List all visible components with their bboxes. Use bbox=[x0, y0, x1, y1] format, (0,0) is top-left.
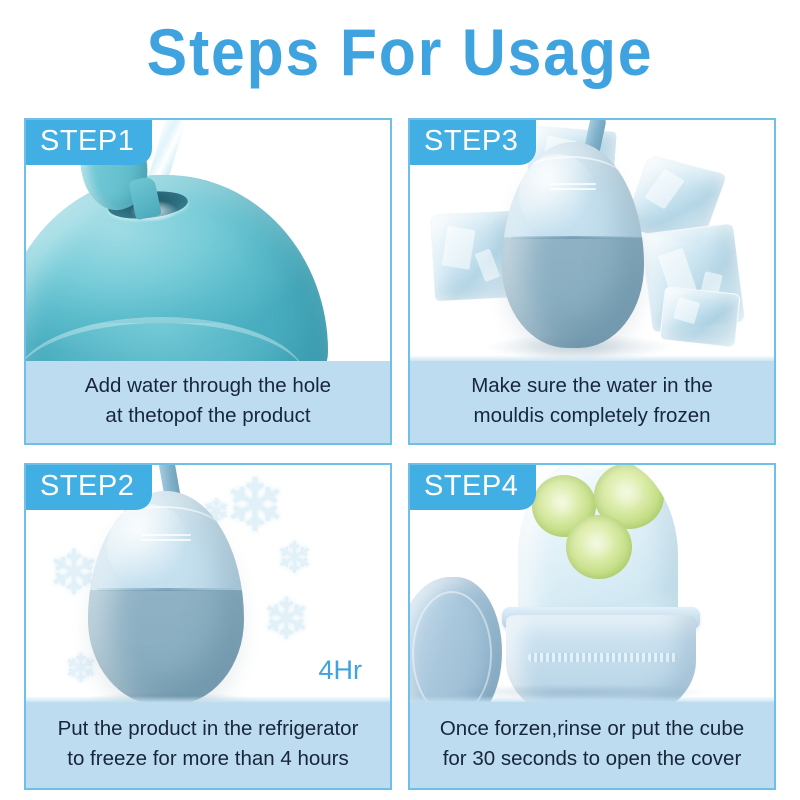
step-caption-2: Put the product in the refrigerator to f… bbox=[26, 702, 390, 788]
snowflake-icon-2: ❄ bbox=[276, 537, 313, 581]
mould-vent-lines bbox=[141, 534, 191, 544]
mould-cover-removed bbox=[410, 577, 502, 702]
floor-reflection bbox=[26, 696, 390, 702]
snowflake-icon-1: ❄ bbox=[224, 469, 286, 543]
page-title: Steps For Usage bbox=[32, 8, 768, 96]
step-badge-1: STEP1 bbox=[26, 120, 152, 165]
step-caption-4: Once forzen,rinse or put the cube for 30… bbox=[410, 702, 774, 788]
cucumber-slice-icon-3 bbox=[566, 515, 632, 579]
step-3-illustration: STEP3 bbox=[410, 120, 774, 361]
step-caption-1: Add water through the hole at thetopof t… bbox=[26, 361, 390, 443]
step-2-illustration: ❄ ❄ ❄ ❄ ❄ ❄ 4Hr STEP2 bbox=[26, 465, 390, 702]
step-4-illustration: STEP4 bbox=[410, 465, 774, 702]
snowflake-icon-4: ❄ bbox=[262, 591, 311, 649]
step-caption-3: Make sure the water in the mouldis compl… bbox=[410, 361, 774, 443]
freeze-duration-label: 4Hr bbox=[318, 655, 362, 686]
step-badge-3: STEP3 bbox=[410, 120, 536, 165]
mould-base-embossed-text bbox=[528, 653, 678, 662]
mould-vent-lines bbox=[550, 183, 595, 193]
mould-dome-rim bbox=[26, 317, 306, 361]
steps-grid: STEP1 Add water through the hole at thet… bbox=[24, 118, 776, 790]
step-panel-2: ❄ ❄ ❄ ❄ ❄ ❄ 4Hr STEP2 Put the product i bbox=[24, 463, 392, 790]
ice-cube-icon-right-front bbox=[659, 286, 740, 348]
floor-reflection bbox=[410, 696, 774, 702]
step-panel-3: STEP3 Make sure the water in the mouldis… bbox=[408, 118, 776, 445]
step-badge-2: STEP2 bbox=[26, 465, 152, 510]
step-panel-1: STEP1 Add water through the hole at thet… bbox=[24, 118, 392, 445]
mould-egg-body bbox=[502, 142, 644, 348]
step-badge-4: STEP4 bbox=[410, 465, 536, 510]
floor-reflection bbox=[410, 355, 774, 361]
snowflake-icon-5: ❄ bbox=[64, 649, 98, 689]
mould-body-seam bbox=[97, 588, 234, 591]
step-panel-4: STEP4 Once forzen,rinse or put the cube … bbox=[408, 463, 776, 790]
mould-cover-inner-ring bbox=[412, 591, 492, 702]
mould-body-seam bbox=[511, 236, 636, 239]
step-1-illustration: STEP1 bbox=[26, 120, 390, 361]
